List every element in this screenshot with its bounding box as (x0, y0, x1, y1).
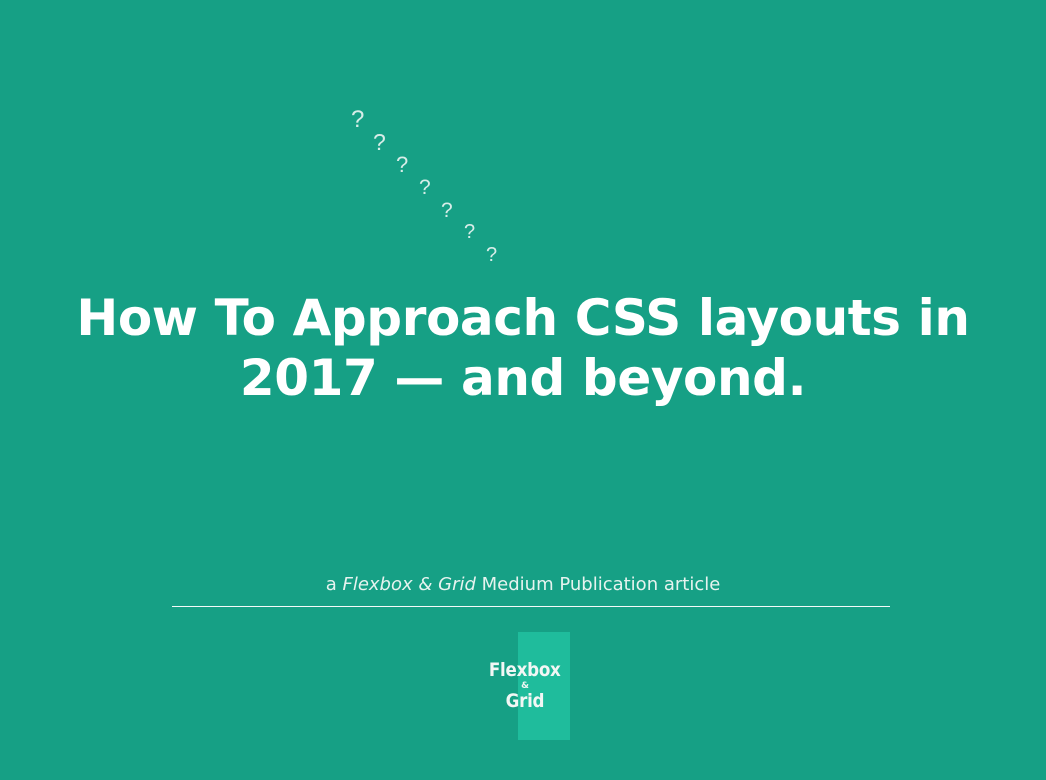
question-mark-icon: ? (351, 108, 364, 132)
question-mark-icon: ? (419, 177, 431, 198)
subtitle-prefix: a (326, 574, 343, 595)
horizontal-divider (172, 606, 890, 607)
page-title-line-2: 2017 — and beyond. (0, 348, 1046, 408)
title-block: How To Approach CSS layouts in 2017 — an… (0, 288, 1046, 408)
flexbox-grid-logo: Flexbox & Grid (470, 630, 580, 742)
logo-word-flexbox: Flexbox (489, 660, 561, 681)
logo-text-stack: Flexbox & Grid (470, 630, 580, 742)
subtitle: a Flexbox & Grid Medium Publication arti… (326, 572, 721, 598)
question-mark-icon: ? (464, 222, 475, 242)
subtitle-publication-name: Flexbox & Grid (342, 574, 475, 595)
slide-canvas: ??????? How To Approach CSS layouts in 2… (0, 0, 1046, 780)
logo-word-grid: Grid (506, 691, 545, 712)
question-mark-icon: ? (441, 200, 453, 221)
subtitle-suffix: Medium Publication article (476, 574, 720, 595)
question-mark-icon: ? (486, 245, 497, 265)
page-title-line-1: How To Approach CSS layouts in (0, 288, 1046, 348)
question-mark-decoration: ??????? (0, 0, 1046, 300)
subtitle-block: a Flexbox & Grid Medium Publication arti… (0, 572, 1046, 598)
question-mark-icon: ? (373, 131, 386, 154)
question-mark-icon: ? (396, 154, 408, 176)
